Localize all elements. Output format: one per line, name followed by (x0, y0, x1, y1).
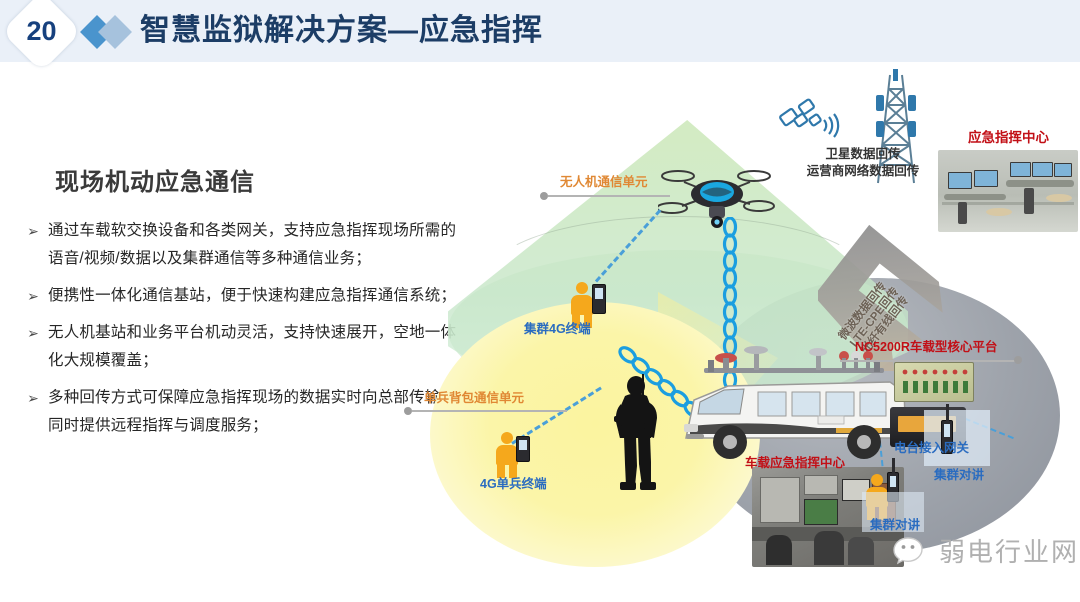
section-heading: 现场机动应急通信 (55, 162, 255, 197)
cluster-4g-handheld-device (592, 284, 606, 314)
diamond-light-icon (98, 15, 132, 49)
label-radio-access-gateway: 电台接入网关 (894, 437, 969, 456)
leader-dot-uav (540, 192, 548, 200)
watermark-text: 弱电行业网 (939, 532, 1079, 569)
leader-dot-backpack (404, 407, 412, 415)
bullet-arrow-icon: ➢ (18, 319, 48, 347)
leader-line-backpack (412, 410, 567, 412)
backhaul-text-block: 卫星数据回传 运营商网络数据回传 (783, 146, 943, 180)
bullet-arrow-icon: ➢ (18, 282, 48, 310)
core-platform-equipment (894, 362, 974, 402)
backhaul-text-line-operator: 运营商网络数据回传 (783, 163, 943, 180)
label-4g-soldier-terminal: 4G单兵终端 (480, 473, 547, 492)
slide-number: 20 (13, 3, 70, 60)
wechat-icon (893, 535, 931, 567)
4g-soldier-handheld-device (516, 436, 530, 462)
ptt-antenna-upper (946, 404, 949, 422)
label-cluster-4g-terminal: 集群4G终端 (524, 318, 591, 337)
label-ptt-radio-lower: 集群对讲 (870, 514, 920, 533)
network-topology-diagram: 卫星数据回传 运营商网络数据回传 应急指挥中心 微波数 (400, 62, 1080, 602)
bullet-arrow-icon: ➢ (18, 384, 48, 412)
leader-dot-nc5200r (1014, 356, 1022, 364)
ptt-antenna-lower (892, 458, 895, 474)
bullet-arrow-icon: ➢ (18, 217, 48, 245)
leader-line-uav (548, 195, 670, 197)
slide-header: 20 智慧监狱解决方案—应急指挥 (0, 0, 1080, 62)
page-title: 智慧监狱解决方案—应急指挥 (140, 8, 543, 54)
leader-line-nc5200r (840, 360, 1015, 362)
label-backpack-comm-unit: 单兵背包通信单元 (424, 387, 524, 406)
soldier-silhouette (608, 372, 668, 492)
watermark: 弱电行业网 (893, 532, 1079, 569)
drone-icon (658, 162, 776, 234)
label-ptt-radio-upper: 集群对讲 (934, 464, 984, 483)
label-vehicle-command-center: 车载应急指挥中心 (745, 452, 845, 471)
label-uav-comm-unit: 无人机通信单元 (560, 171, 648, 190)
person-4g-soldier-user (496, 432, 518, 478)
label-nc5200r-core-platform: NC5200R车载型核心平台 (855, 336, 997, 355)
satellite-icon (778, 90, 850, 150)
backhaul-text-line-satellite: 卫星数据回传 (783, 146, 943, 163)
label-emergency-command-center: 应急指挥中心 (968, 126, 1049, 146)
